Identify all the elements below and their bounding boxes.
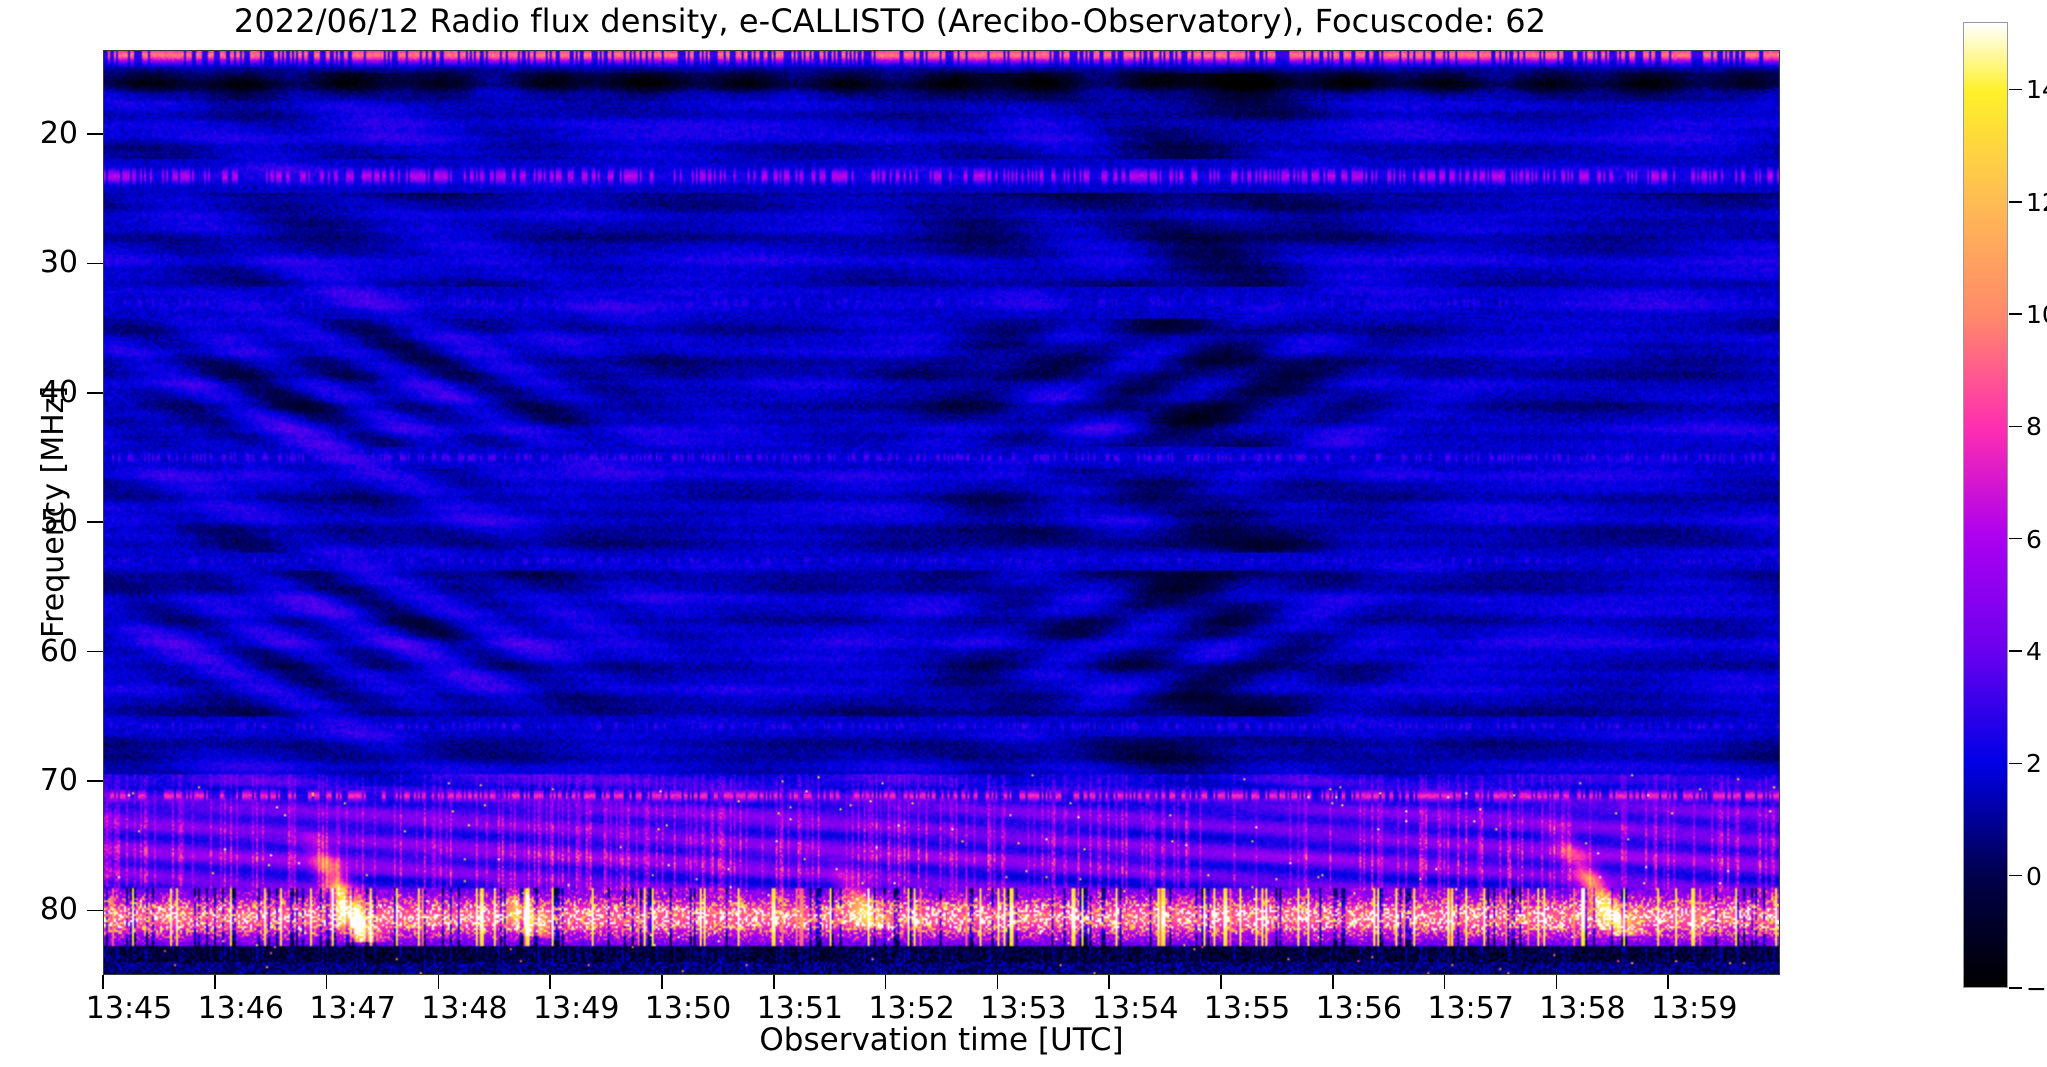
colorbar-tick-label: 10: [2026, 302, 2047, 327]
x-tick-mark: [549, 975, 551, 989]
x-tick-mark: [102, 975, 104, 989]
colorbar-tick-label: −2: [2026, 976, 2047, 1001]
x-tick-mark: [1332, 975, 1334, 989]
colorbar-gradient: [1964, 23, 2007, 987]
colorbar-tick-mark: [2009, 426, 2022, 428]
y-tick-mark: [87, 392, 103, 394]
y-axis-label: Frequency [MHz]: [36, 385, 71, 637]
colorbar-tick-mark: [2009, 875, 2022, 877]
spectrogram-image: [104, 51, 1779, 974]
colorbar-tick-label: 12: [2026, 190, 2047, 215]
y-tick-mark: [87, 263, 103, 265]
x-tick-mark: [1444, 975, 1446, 989]
colorbar-tick-label: 14: [2026, 77, 2047, 102]
y-tick-mark: [87, 780, 103, 782]
y-tick-label: 70: [0, 766, 78, 796]
colorbar-tick-mark: [2009, 89, 2022, 91]
x-tick-label: 13:59: [1614, 993, 1774, 1025]
x-tick-mark: [1556, 975, 1558, 989]
x-tick-mark: [661, 975, 663, 989]
x-tick-mark: [773, 975, 775, 989]
y-tick-mark: [87, 133, 103, 135]
y-tick-label: 60: [0, 637, 78, 667]
y-tick-label: 30: [0, 248, 78, 278]
colorbar-tick-mark: [2009, 313, 2022, 315]
colorbar-tick-mark: [2009, 763, 2022, 765]
x-tick-mark: [1220, 975, 1222, 989]
x-tick-mark: [214, 975, 216, 989]
x-tick-mark: [997, 975, 999, 989]
x-tick-mark: [326, 975, 328, 989]
colorbar[interactable]: [1963, 22, 2008, 988]
colorbar-tick-mark: [2009, 650, 2022, 652]
y-tick-mark: [87, 521, 103, 523]
figure-title: 2022/06/12 Radio flux density, e-CALLIST…: [0, 2, 1780, 40]
y-tick-label: 20: [0, 119, 78, 149]
figure: 2022/06/12 Radio flux density, e-CALLIST…: [0, 0, 2047, 1067]
colorbar-tick-mark: [2009, 538, 2022, 540]
colorbar-tick-label: 6: [2026, 527, 2042, 552]
x-tick-mark: [885, 975, 887, 989]
y-tick-mark: [87, 651, 103, 653]
x-axis-label: Observation time [UTC]: [103, 1022, 1780, 1058]
colorbar-tick-mark: [2009, 201, 2022, 203]
x-tick-mark: [1108, 975, 1110, 989]
colorbar-tick-mark: [2009, 987, 2022, 989]
colorbar-tick-label: 4: [2026, 639, 2042, 664]
x-tick-mark: [1667, 975, 1669, 989]
colorbar-tick-label: 0: [2026, 864, 2042, 889]
x-tick-mark: [438, 975, 440, 989]
y-tick-label: 80: [0, 895, 78, 925]
spectrogram-plot-area[interactable]: [103, 50, 1780, 975]
colorbar-tick-label: 2: [2026, 751, 2042, 776]
colorbar-tick-label: 8: [2026, 414, 2042, 439]
y-tick-mark: [87, 910, 103, 912]
